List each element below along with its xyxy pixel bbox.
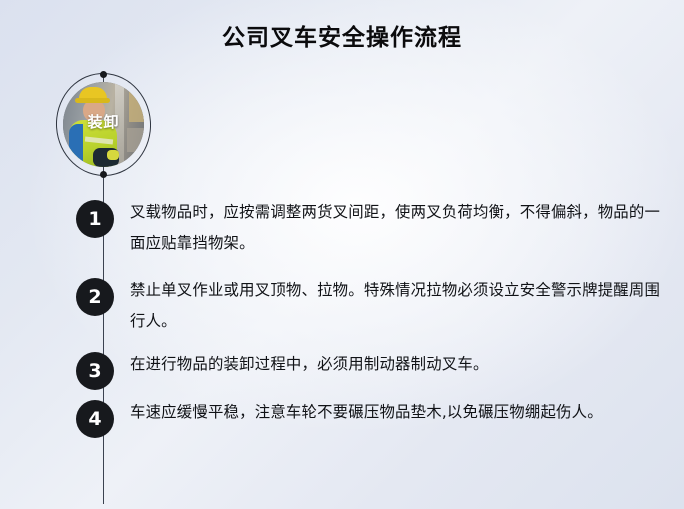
step-text-1: 叉载物品时，应按需调整两货叉间距，使两叉负荷均衡，不得偏斜，物品的一面应贴靠挡物… (130, 197, 670, 259)
step-text-2: 禁止单叉作业或用叉顶物、拉物。特殊情况拉物必须设立安全警示牌提醒周围行人。 (130, 275, 670, 337)
step-text-3: 在进行物品的装卸过程中，必须用制动器制动叉车。 (130, 349, 670, 380)
timeline-node-dot-top (100, 71, 107, 78)
step-number-1: 1 (76, 200, 114, 238)
step-number-3: 3 (76, 352, 114, 390)
step-number-4: 4 (76, 400, 114, 438)
step-text-4: 车速应缓慢平稳，注意车轮不要碾压物品垫木,以免碾压物绷起伤人。 (130, 397, 670, 428)
badge-label: 装卸 (56, 111, 151, 132)
stage-badge[interactable]: 装卸 (56, 73, 151, 176)
slide-canvas: 公司叉车安全操作流程 装卸 1 叉载物品时，应按需调整两货叉间距，使两叉负荷均衡… (0, 0, 684, 509)
page-title: 公司叉车安全操作流程 (0, 18, 684, 52)
step-number-2: 2 (76, 278, 114, 316)
timeline-node-dot-bottom (100, 171, 107, 178)
